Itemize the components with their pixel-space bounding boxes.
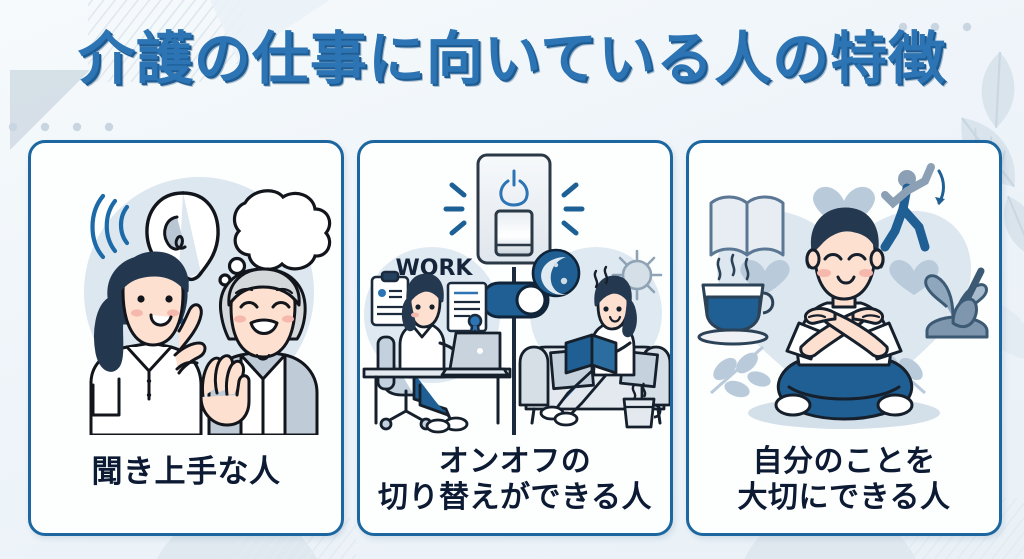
- infographic-canvas: 介護の仕事に向いている人の特徴: [0, 0, 1024, 559]
- open-book-icon: [711, 197, 783, 255]
- wall-light-switch-icon: [478, 155, 550, 263]
- card-self-care[interactable]: 自分のことを 大切にできる人: [686, 140, 1002, 536]
- card-on-off-switch[interactable]: WORK: [357, 140, 673, 536]
- card-listener[interactable]: 聞き上手な人: [28, 140, 344, 536]
- work-life-balance-switch-illustration: WORK: [360, 147, 670, 435]
- moon-icon: [533, 250, 579, 296]
- caregiver-listening-to-elderly-illustration: [31, 147, 341, 435]
- caption-line: 切り替えができる人: [360, 480, 670, 515]
- caption-line: 自分のことを: [689, 444, 999, 479]
- card-listener-caption: 聞き上手な人: [31, 454, 341, 491]
- page-title: 介護の仕事に向いている人の特徴: [78, 31, 946, 88]
- card-on-off-switch-caption: オンオフの 切り替えができる人: [360, 444, 670, 515]
- caption-line: オンオフの: [360, 444, 670, 479]
- caption-line: 聞き上手な人: [31, 454, 341, 491]
- certificate-document-icon: [448, 283, 486, 334]
- self-care-person-hugging-self-illustration: [689, 147, 999, 435]
- card-self-care-caption: 自分のことを 大切にできる人: [689, 444, 999, 515]
- caption-line: 大切にできる人: [689, 480, 999, 515]
- page-title-wrap: 介護の仕事に向いている人の特徴: [0, 31, 1024, 88]
